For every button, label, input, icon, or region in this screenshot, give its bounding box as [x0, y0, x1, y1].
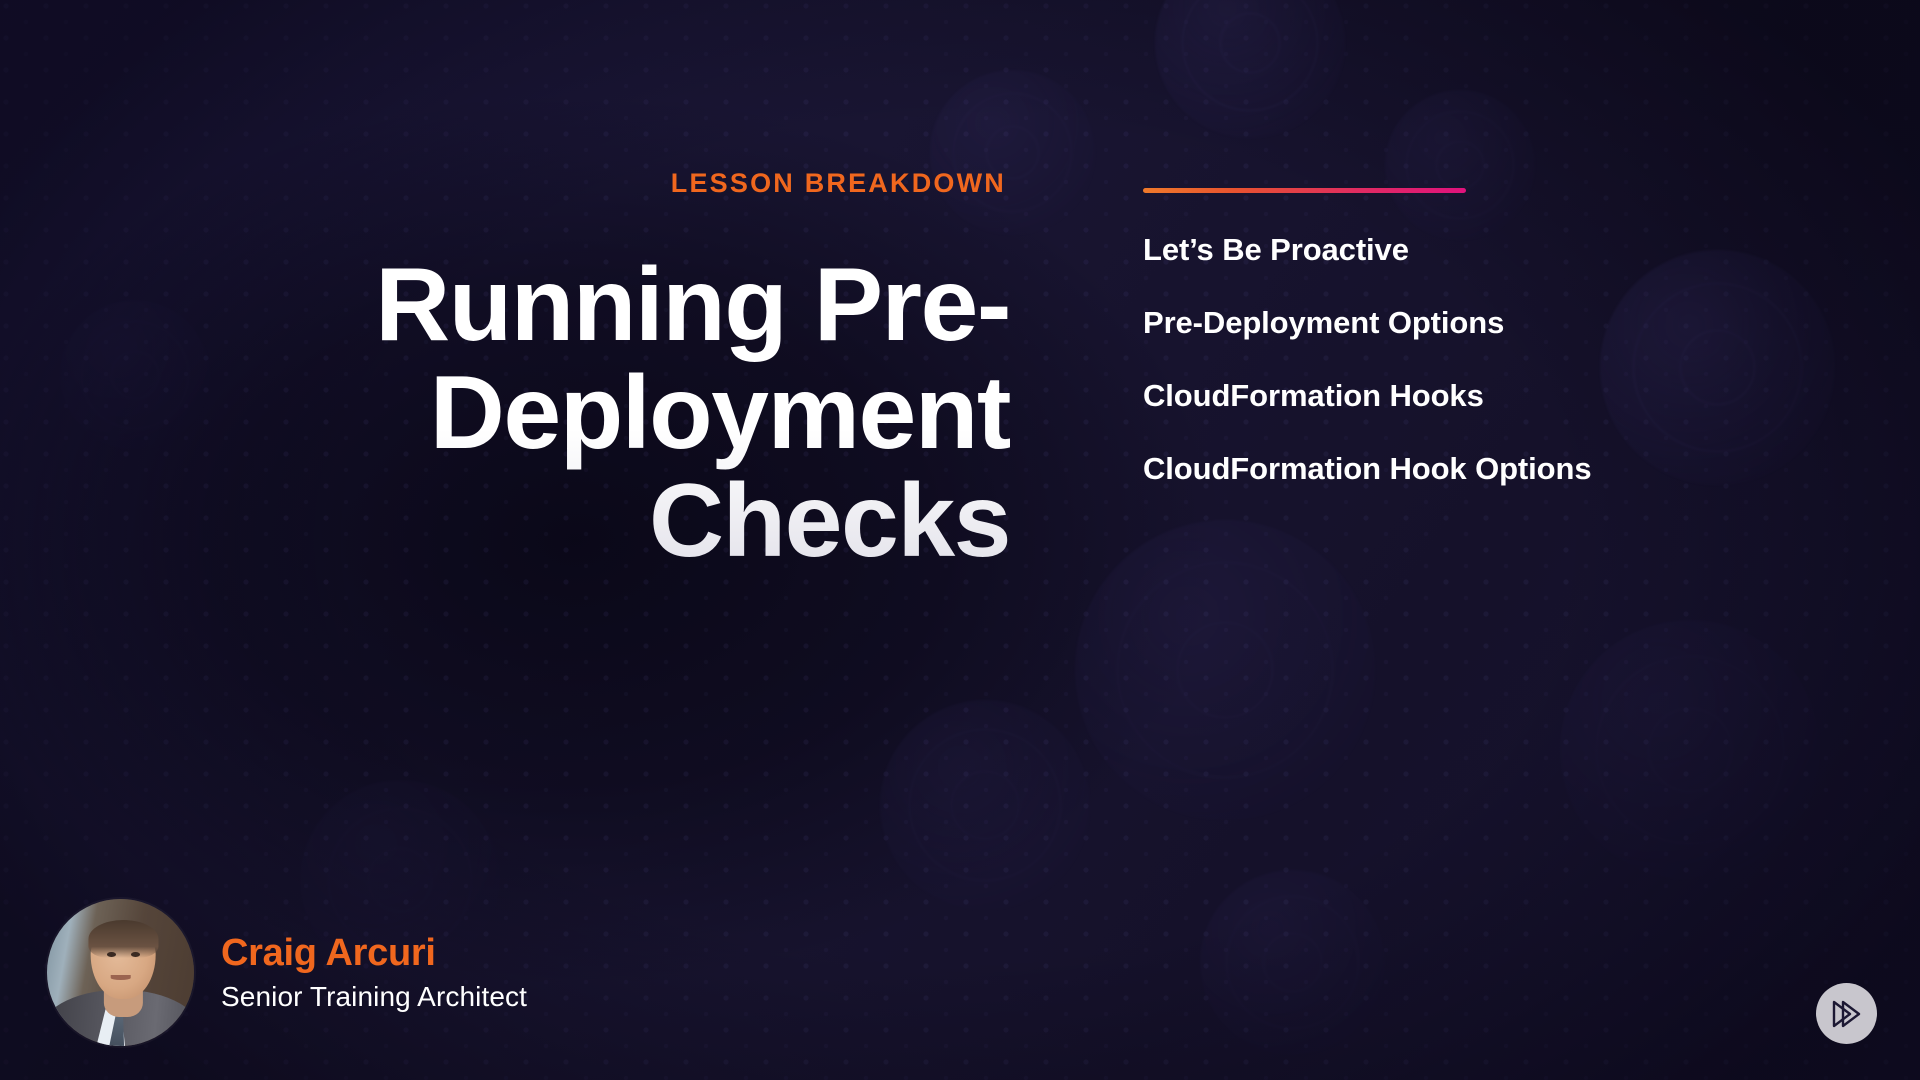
- agenda-list: Let’s Be Proactive Pre-Deployment Option…: [1143, 188, 1783, 484]
- agenda-item-3: CloudFormation Hooks: [1143, 380, 1783, 411]
- decorative-sphere: [880, 700, 1090, 910]
- avatar-eye-left: [107, 952, 116, 957]
- title-block: LESSON BREAKDOWN Running Pre-Deployment …: [250, 170, 1010, 575]
- double-play-icon: [1830, 999, 1864, 1029]
- eyebrow-label: LESSON BREAKDOWN: [250, 170, 1010, 197]
- decorative-sphere: [1200, 870, 1385, 1055]
- avatar: [47, 899, 194, 1046]
- gradient-divider: [1143, 188, 1466, 193]
- decorative-sphere: [1560, 620, 1820, 880]
- decorative-sphere: [1075, 520, 1375, 820]
- presenter-text: Craig Arcuri Senior Training Architect: [221, 934, 527, 1011]
- presenter-block: Craig Arcuri Senior Training Architect: [47, 899, 527, 1046]
- agenda-item-1: Let’s Be Proactive: [1143, 234, 1783, 265]
- brand-logo-button[interactable]: [1816, 983, 1877, 1044]
- page-title: Running Pre-Deployment Checks: [250, 251, 1010, 575]
- presenter-name: Craig Arcuri: [221, 934, 527, 972]
- decorative-sphere: [60, 300, 210, 450]
- avatar-hair: [89, 920, 158, 958]
- agenda-item-4: CloudFormation Hook Options: [1143, 453, 1783, 484]
- slide-root: LESSON BREAKDOWN Running Pre-Deployment …: [0, 0, 1920, 1080]
- presenter-role: Senior Training Architect: [221, 983, 527, 1011]
- agenda-item-2: Pre-Deployment Options: [1143, 307, 1783, 338]
- avatar-eye-right: [131, 952, 140, 957]
